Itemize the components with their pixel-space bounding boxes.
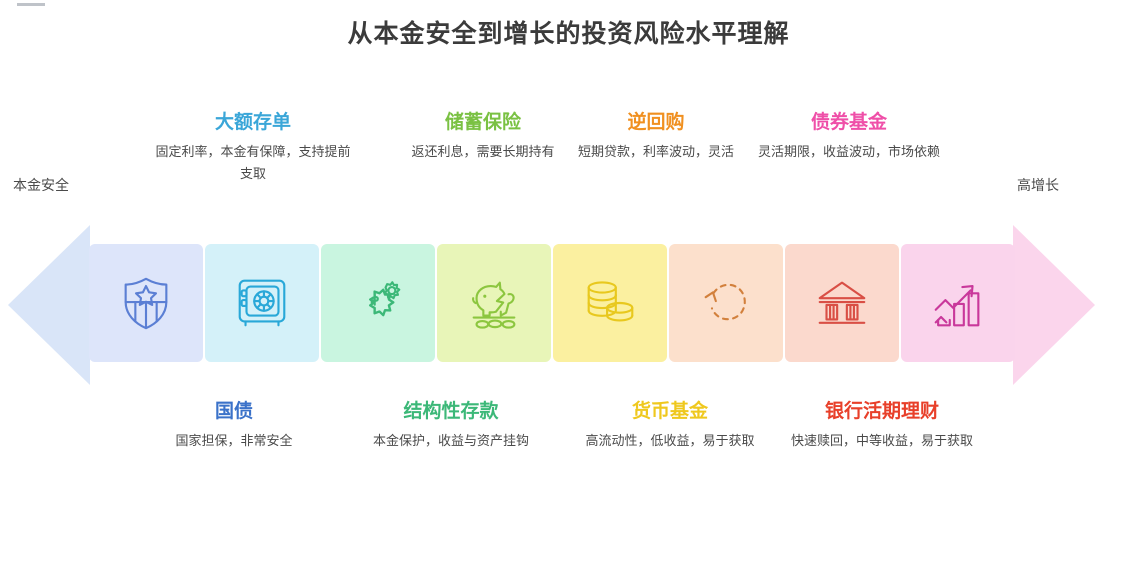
top-callout-description: 固定利率，本金有保障，支持提前支取: [155, 142, 351, 186]
risk-tile-4[interactable]: [437, 244, 551, 362]
shield-star-icon: [115, 272, 177, 334]
top-callout-description: 短期贷款，利率波动，灵活: [558, 142, 754, 164]
axis-label-left: 本金安全: [13, 175, 69, 195]
top-callout-title: 储蓄保险: [385, 110, 581, 134]
bottom-callout-description: 本金保护，收益与资产挂钩: [353, 431, 549, 453]
top-callout-description: 返还利息，需要长期持有: [385, 142, 581, 164]
bottom-callout-description: 快速赎回，中等收益，易于获取: [784, 431, 980, 453]
risk-spectrum-strip: [89, 244, 1015, 362]
top-callout-2: 储蓄保险返还利息，需要长期持有: [385, 110, 581, 164]
bottom-callout-3: 货币基金高流动性，低收益，易于获取: [572, 399, 768, 453]
top-callout-title: 债券基金: [751, 110, 947, 134]
risk-tile-1[interactable]: [89, 244, 203, 362]
page-title: 从本金安全到增长的投资风险水平理解: [0, 14, 1137, 50]
bottom-callout-title: 货币基金: [572, 399, 768, 423]
risk-tile-2[interactable]: [205, 244, 319, 362]
bottom-callout-2: 结构性存款本金保护，收益与资产挂钩: [353, 399, 549, 453]
circular-arrow-icon: [695, 272, 757, 334]
safe-vault-icon: [231, 272, 293, 334]
risk-tile-7[interactable]: [785, 244, 899, 362]
bank-building-icon: [811, 272, 873, 334]
growth-chart-icon: [927, 272, 989, 334]
top-callout-title: 逆回购: [558, 110, 754, 134]
corner-mark: [17, 3, 45, 6]
bottom-callout-title: 国债: [136, 399, 332, 423]
top-callout-1: 大额存单固定利率，本金有保障，支持提前支取: [155, 110, 351, 186]
bottom-callout-description: 高流动性，低收益，易于获取: [572, 431, 768, 453]
top-callout-4: 债券基金灵活期限，收益波动，市场依赖: [751, 110, 947, 164]
risk-tile-5[interactable]: [553, 244, 667, 362]
bottom-callout-4: 银行活期理财快速赎回，中等收益，易于获取: [784, 399, 980, 453]
coin-stack-icon: [579, 272, 641, 334]
broken-piggy-bank-icon: [463, 272, 525, 334]
right-arrow-growth: [1013, 225, 1095, 385]
risk-tile-3[interactable]: [321, 244, 435, 362]
top-callout-description: 灵活期限，收益波动，市场依赖: [751, 142, 947, 164]
bottom-callout-title: 结构性存款: [353, 399, 549, 423]
bottom-callout-1: 国债国家担保，非常安全: [136, 399, 332, 453]
axis-label-right: 高增长: [1017, 175, 1059, 195]
left-arrow-safety: [8, 225, 90, 385]
bottom-callout-title: 银行活期理财: [784, 399, 980, 423]
bottom-callout-description: 国家担保，非常安全: [136, 431, 332, 453]
gears-dollar-icon: [347, 272, 409, 334]
top-callout-title: 大额存单: [155, 110, 351, 134]
risk-tile-8[interactable]: [901, 244, 1015, 362]
risk-tile-6[interactable]: [669, 244, 783, 362]
top-callout-3: 逆回购短期贷款，利率波动，灵活: [558, 110, 754, 164]
